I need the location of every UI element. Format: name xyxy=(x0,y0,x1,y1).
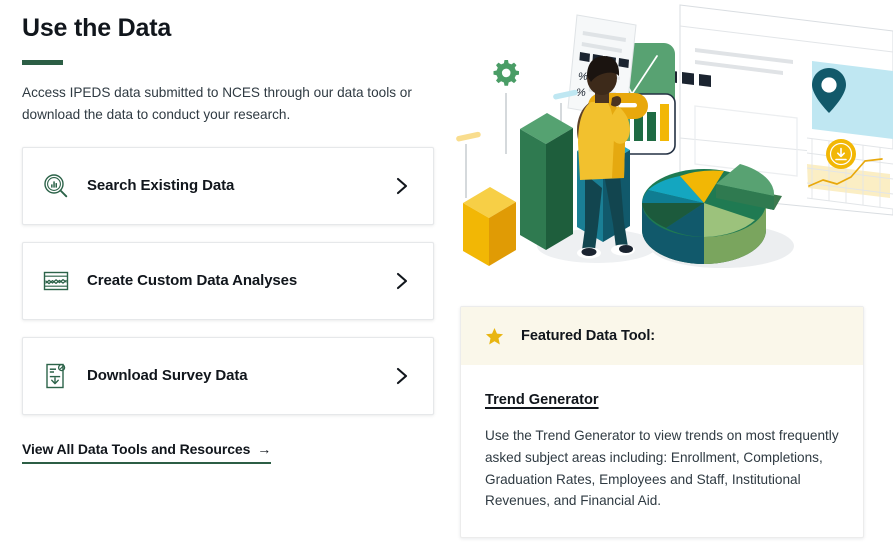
featured-panel-body: Trend Generator Use the Trend Generator … xyxy=(461,365,863,512)
tool-card-label: Download Survey Data xyxy=(87,367,391,384)
intro-paragraph: Access IPEDS data submitted to NCES thro… xyxy=(22,82,422,126)
chevron-right-icon[interactable] xyxy=(391,270,413,292)
featured-description: Use the Trend Generator to view trends o… xyxy=(485,425,839,512)
line-chart-icon xyxy=(39,264,73,298)
tool-card-create-custom-data-analyses[interactable]: Create Custom Data Analyses xyxy=(22,242,434,320)
title-underline-rule xyxy=(22,60,63,65)
tool-card-search-existing-data[interactable]: Search Existing Data xyxy=(22,147,434,225)
download-badge-icon xyxy=(826,139,856,169)
tool-card-label: Search Existing Data xyxy=(87,177,391,194)
star-icon xyxy=(485,327,504,346)
view-all-data-tools-link[interactable]: View All Data Tools and Resources → xyxy=(22,441,271,464)
featured-panel-title: Featured Data Tool: xyxy=(521,328,655,344)
data-tool-card-list: Search Existing Data xyxy=(22,147,434,415)
view-all-label: View All Data Tools and Resources xyxy=(22,441,250,457)
left-column: Use the Data Access IPEDS data submitted… xyxy=(22,0,434,464)
svg-text:%: % xyxy=(578,71,588,83)
arrow-right-icon: → xyxy=(257,442,271,456)
tool-card-download-survey-data[interactable]: Download Survey Data xyxy=(22,337,434,415)
tool-card-label: Create Custom Data Analyses xyxy=(87,272,391,289)
document-download-icon xyxy=(39,359,73,393)
featured-panel-header: Featured Data Tool: xyxy=(461,307,863,365)
data-tools-illustration: % % xyxy=(452,0,893,298)
search-chart-icon xyxy=(39,169,73,203)
trend-generator-link[interactable]: Trend Generator xyxy=(485,392,599,408)
use-the-data-section: Use the Data Access IPEDS data submitted… xyxy=(0,0,893,544)
page-title: Use the Data xyxy=(22,0,434,43)
featured-data-tool-panel: Featured Data Tool: Trend Generator Use … xyxy=(460,306,864,538)
gear-icon xyxy=(494,60,520,86)
chevron-right-icon[interactable] xyxy=(391,175,413,197)
chevron-right-icon[interactable] xyxy=(391,365,413,387)
